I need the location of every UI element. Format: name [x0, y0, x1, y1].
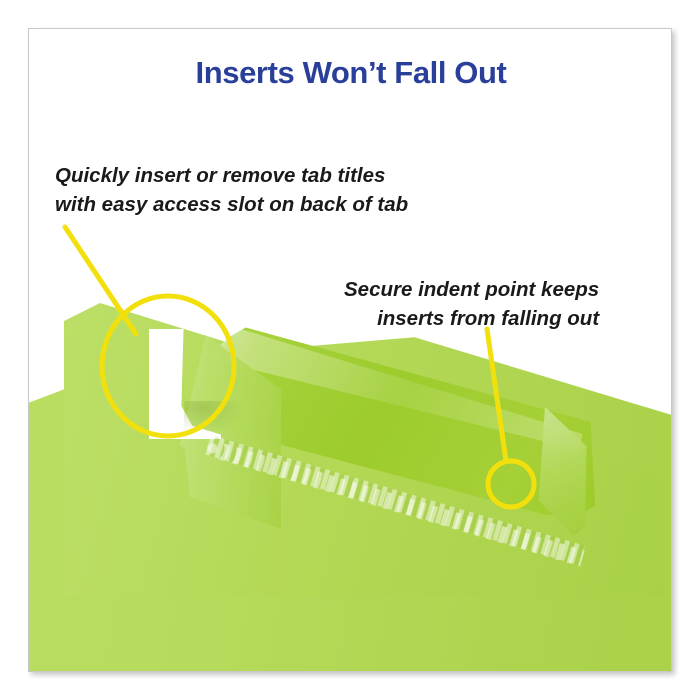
product-photo-frame: Inserts Won’t Fall Out Quickly insert or… — [28, 28, 672, 672]
callout-caption-line-2: inserts from falling out — [344, 304, 599, 333]
callout-caption-line-2: with easy access slot on back of tab — [55, 190, 408, 219]
screenshot-root: Inserts Won’t Fall Out Quickly insert or… — [0, 0, 700, 700]
tab-notch-shadow — [184, 401, 244, 433]
callout-caption-indent-point: Secure indent point keeps inserts from f… — [344, 275, 599, 333]
product-photo — [29, 29, 672, 672]
callout-caption-line-1: Secure indent point keeps — [344, 275, 599, 304]
callout-caption-access-slot: Quickly insert or remove tab titles with… — [55, 161, 408, 219]
page-title: Inserts Won’t Fall Out — [29, 55, 672, 91]
callout-caption-line-1: Quickly insert or remove tab titles — [55, 161, 408, 190]
